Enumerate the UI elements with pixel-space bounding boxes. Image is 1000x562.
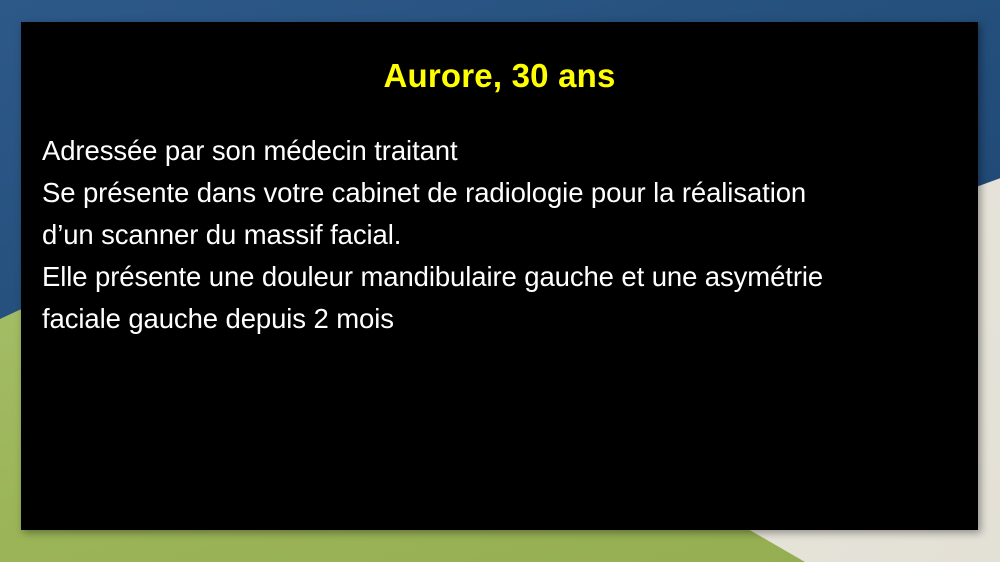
body-line: Elle présente une douleur mandibulaire g… (42, 256, 952, 298)
body-line: d’un scanner du massif facial. (42, 214, 952, 256)
body-line: faciale gauche depuis 2 mois (42, 298, 952, 340)
slide-body: Adressée par son médecin traitant Se pré… (42, 130, 952, 340)
body-line: Se présente dans votre cabinet de radiol… (42, 172, 952, 214)
body-line: Adressée par son médecin traitant (42, 130, 952, 172)
presentation-slide: Aurore, 30 ans Adressée par son médecin … (0, 0, 1000, 562)
content-panel: Aurore, 30 ans Adressée par son médecin … (21, 22, 978, 530)
slide-title: Aurore, 30 ans (21, 56, 978, 96)
